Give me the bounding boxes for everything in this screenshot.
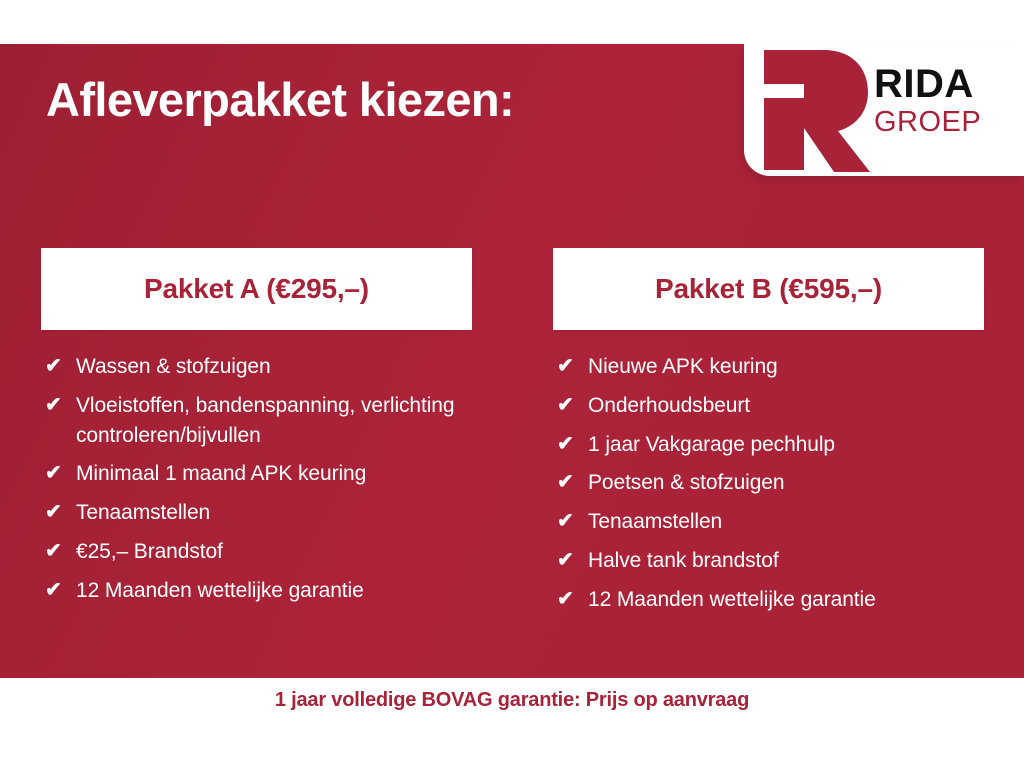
feature-label: 12 Maanden wettelijke garantie (76, 576, 472, 606)
check-icon: ✔ (557, 468, 588, 496)
check-icon: ✔ (557, 585, 588, 613)
check-icon: ✔ (557, 391, 588, 419)
list-item: ✔ €25,– Brandstof (45, 537, 472, 567)
check-icon: ✔ (45, 537, 76, 565)
feature-label: Vloeistoffen, bandenspanning, verlichtin… (76, 391, 472, 451)
package-b-feature-list: ✔ Nieuwe APK keuring ✔ Onderhoudsbeurt ✔… (553, 330, 984, 615)
list-item: ✔ 12 Maanden wettelijke garantie (45, 576, 472, 606)
feature-label: Tenaamstellen (76, 498, 472, 528)
feature-label: 1 jaar Vakgarage pechhulp (588, 430, 984, 460)
feature-label: Nieuwe APK keuring (588, 352, 984, 382)
package-a-feature-list: ✔ Wassen & stofzuigen ✔ Vloeistoffen, ba… (41, 330, 472, 606)
footer-bar: 1 jaar volledige BOVAG garantie: Prijs o… (0, 678, 1024, 768)
check-icon: ✔ (557, 507, 588, 535)
check-icon: ✔ (45, 498, 76, 526)
brand-logo-plate: RIDA GROEP (744, 44, 1024, 176)
list-item: ✔ 1 jaar Vakgarage pechhulp (557, 430, 984, 460)
brand-name-secondary: GROEP (874, 107, 1016, 139)
list-item: ✔ Tenaamstellen (45, 498, 472, 528)
footer-note: 1 jaar volledige BOVAG garantie: Prijs o… (275, 689, 749, 712)
list-item: ✔ Nieuwe APK keuring (557, 352, 984, 382)
package-a-title: Pakket A (€295,–) (144, 273, 369, 305)
feature-label: 12 Maanden wettelijke garantie (588, 585, 984, 615)
feature-label: Minimaal 1 maand APK keuring (76, 459, 472, 489)
check-icon: ✔ (45, 391, 76, 419)
list-item: ✔ Vloeistoffen, bandenspanning, verlicht… (45, 391, 472, 451)
list-item: ✔ Wassen & stofzuigen (45, 352, 472, 382)
check-icon: ✔ (557, 430, 588, 458)
check-icon: ✔ (45, 576, 76, 604)
list-item: ✔ Minimaal 1 maand APK keuring (45, 459, 472, 489)
feature-label: Halve tank brandstof (588, 546, 984, 576)
list-item: ✔ Onderhoudsbeurt (557, 391, 984, 421)
list-item: ✔ Poetsen & stofzuigen (557, 468, 984, 498)
brand-wordmark: RIDA GROEP (874, 64, 1016, 139)
page-title: Afleverpakket kiezen: (46, 75, 514, 124)
list-item: ✔ 12 Maanden wettelijke garantie (557, 585, 984, 615)
package-b-title: Pakket B (€595,–) (655, 273, 882, 305)
feature-label: €25,– Brandstof (76, 537, 472, 567)
feature-label: Onderhoudsbeurt (588, 391, 984, 421)
brand-name-primary: RIDA (874, 64, 1016, 104)
package-a-header: Pakket A (€295,–) (41, 248, 472, 330)
feature-label: Wassen & stofzuigen (76, 352, 472, 382)
check-icon: ✔ (45, 352, 76, 380)
list-item: ✔ Tenaamstellen (557, 507, 984, 537)
package-b-header: Pakket B (€595,–) (553, 248, 984, 330)
slide-root: Afleverpakket kiezen: RIDA GROEP Pakket … (0, 0, 1024, 768)
list-item: ✔ Halve tank brandstof (557, 546, 984, 576)
check-icon: ✔ (557, 546, 588, 574)
check-icon: ✔ (45, 459, 76, 487)
feature-label: Tenaamstellen (588, 507, 984, 537)
package-column-b: Pakket B (€595,–) ✔ Nieuwe APK keuring ✔… (553, 248, 984, 624)
feature-label: Poetsen & stofzuigen (588, 468, 984, 498)
check-icon: ✔ (557, 352, 588, 380)
rida-r-mark-icon (760, 46, 872, 174)
package-column-a: Pakket A (€295,–) ✔ Wassen & stofzuigen … (41, 248, 472, 615)
